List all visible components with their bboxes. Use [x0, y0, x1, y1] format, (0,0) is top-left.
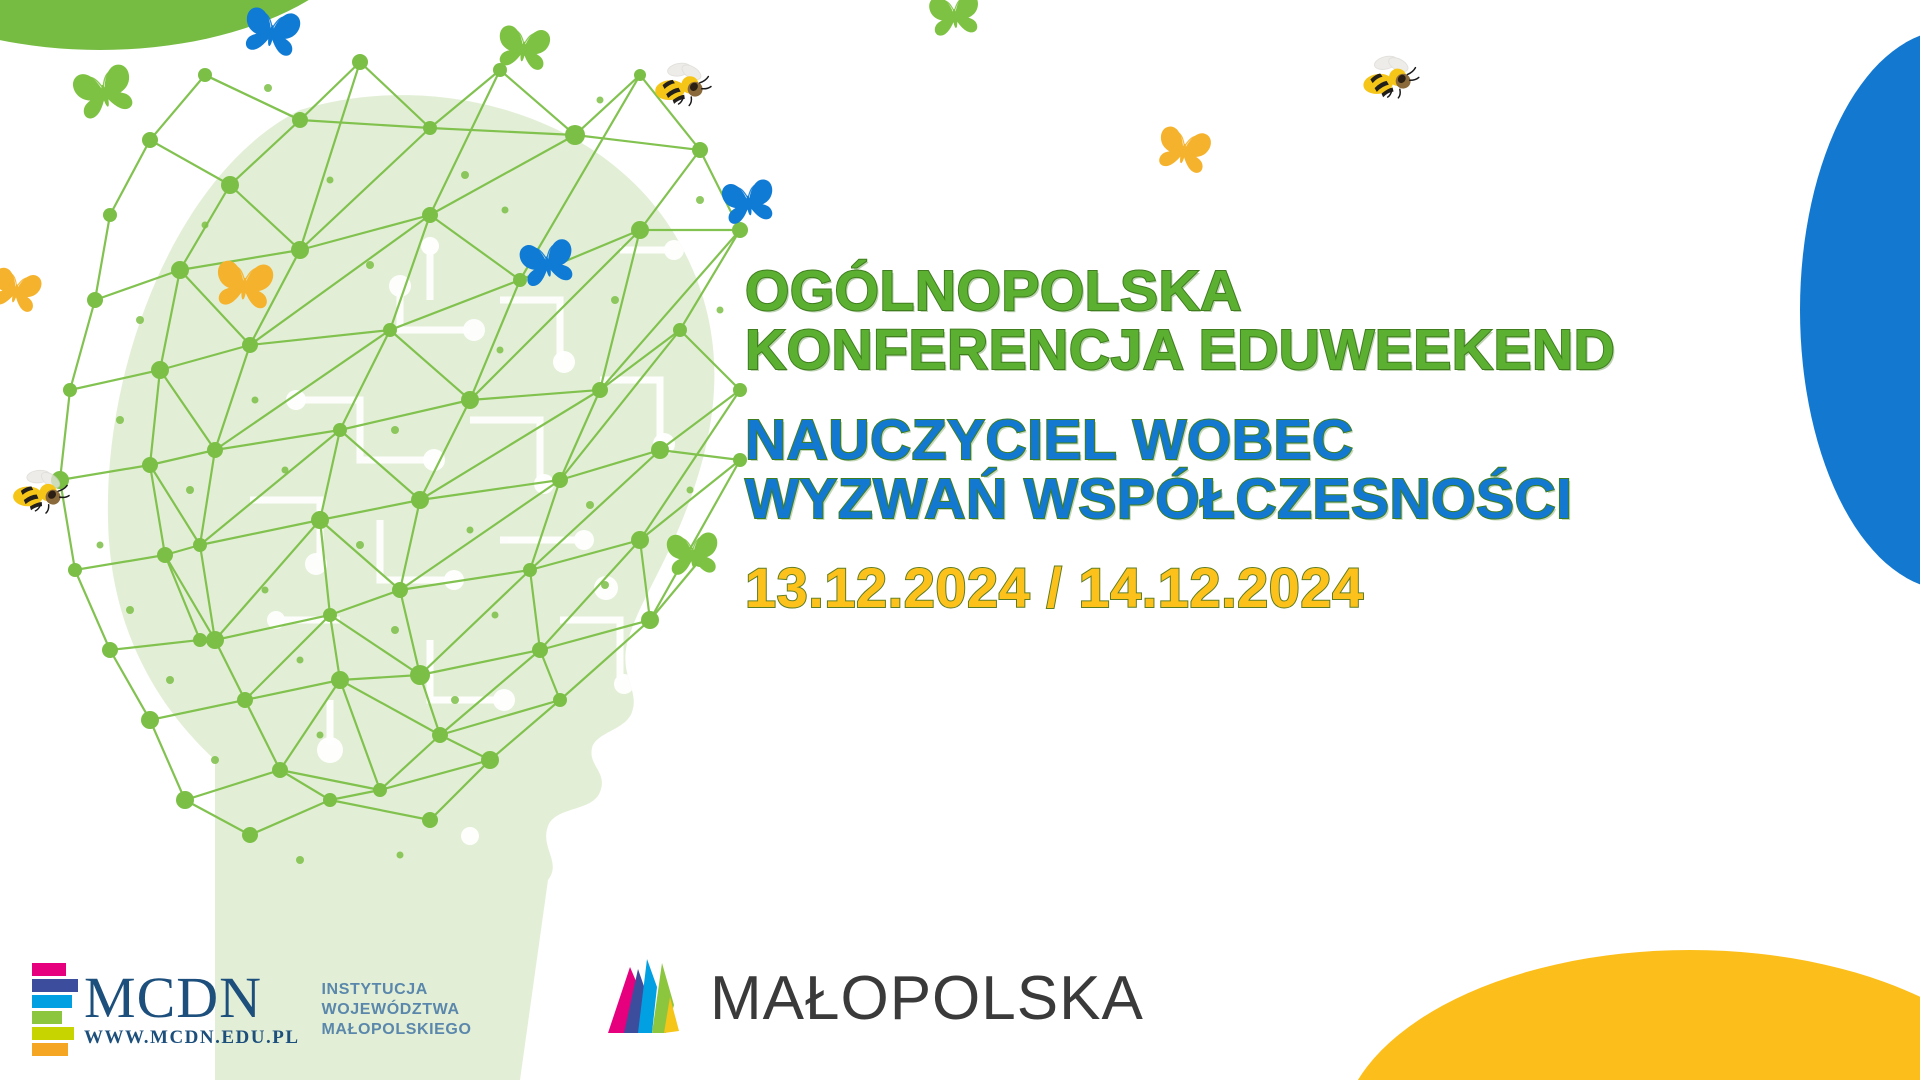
mcdn-tagline: INSTYTUCJA WOJEWÓDZTWA MAŁOPOLSKIEGO [322, 980, 472, 1040]
logo-bar: MCDN WWW.MCDN.EDU.PL INSTYTUCJA WOJEWÓDZ… [0, 930, 1920, 1080]
bee-2-icon [1351, 41, 1427, 121]
mcdn-tagline-line-1: INSTYTUCJA [322, 980, 472, 1000]
malopolska-m-mark-icon [600, 953, 686, 1044]
malopolska-logo[interactable]: MAŁOPOLSKA [600, 953, 1144, 1044]
conference-subtitle: NAUCZYCIEL WOBEC WYZWAŃ WSPÓŁCZESNOŚCI [745, 411, 1920, 530]
butterfly-green-4-icon [660, 522, 727, 593]
title-line-1: OGÓLNOPOLSKA [745, 262, 1920, 321]
butterfly-yellow-2-icon [206, 249, 281, 329]
mcdn-tagline-line-2: WOJEWÓDZTWA [322, 1000, 472, 1020]
mcdn-wordmark: MCDN WWW.MCDN.EDU.PL [84, 970, 300, 1049]
mcdn-logo[interactable]: MCDN WWW.MCDN.EDU.PL INSTYTUCJA WOJEWÓDZ… [32, 963, 472, 1056]
mcdn-name: MCDN [84, 970, 300, 1025]
butterfly-yellow-1-icon [1146, 114, 1221, 192]
conference-poster: OGÓLNOPOLSKA KONFERENCJA EDUWEEKEND NAUC… [0, 0, 1920, 1080]
conference-title: OGÓLNOPOLSKA KONFERENCJA EDUWEEKEND [745, 262, 1920, 381]
butterfly-blue-3-icon [510, 227, 585, 306]
mcdn-color-bars-icon [32, 963, 78, 1056]
subtitle-line-1: NAUCZYCIEL WOBEC [745, 411, 1920, 470]
butterfly-blue-1-icon [232, 0, 309, 76]
butterfly-green-2-icon [488, 14, 559, 89]
title-line-2: KONFERENCJA EDUWEEKEND [745, 321, 1920, 380]
butterfly-green-3-icon [922, 0, 988, 54]
mcdn-url: WWW.MCDN.EDU.PL [84, 1027, 300, 1049]
conference-dates: 13.12.2024 / 14.12.2024 [745, 555, 1920, 620]
subtitle-line-2: WYZWAŃ WSPÓŁCZESNOŚCI [745, 470, 1920, 529]
poster-text-block: OGÓLNOPOLSKA KONFERENCJA EDUWEEKEND NAUC… [745, 262, 1920, 620]
malopolska-name: MAŁOPOLSKA [710, 963, 1144, 1034]
butterfly-blue-2-icon [714, 168, 785, 243]
mcdn-tagline-line-3: MAŁOPOLSKIEGO [322, 1020, 472, 1040]
